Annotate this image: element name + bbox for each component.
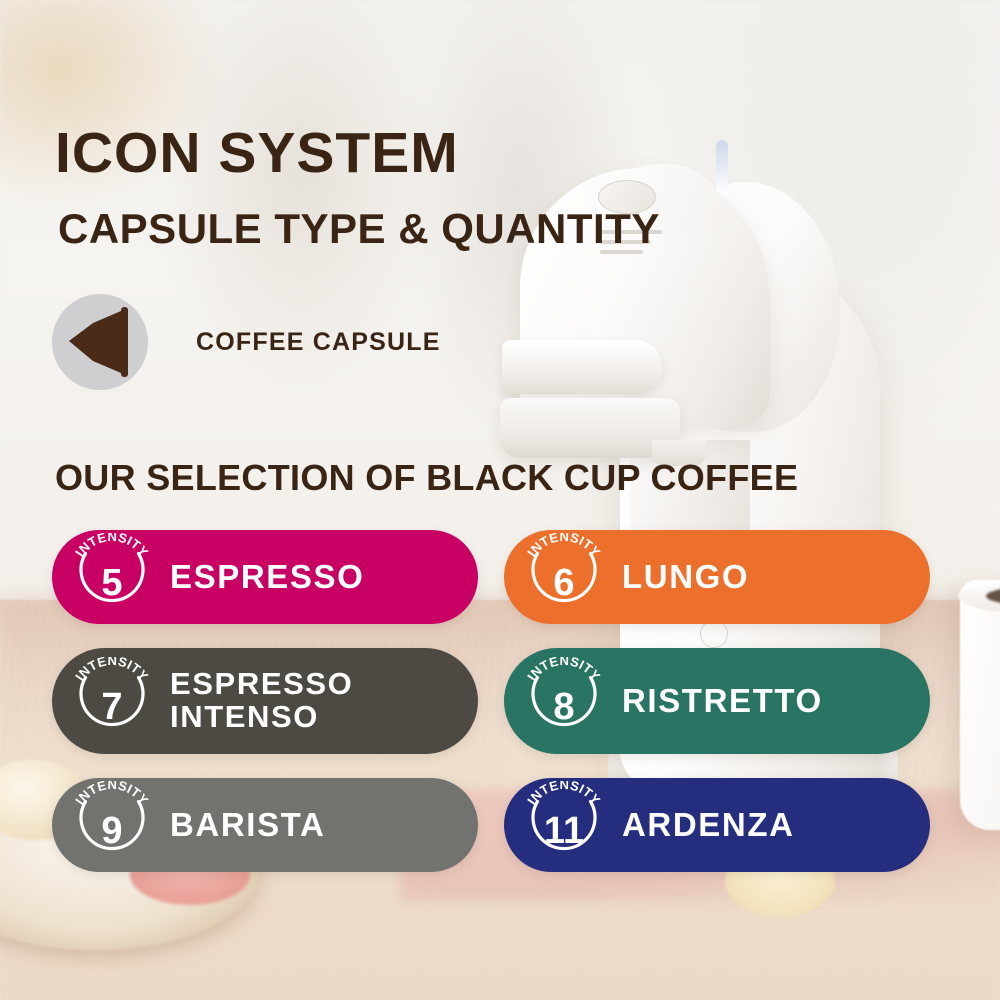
coffee-name-label: ESPRESSO (170, 560, 364, 595)
coffee-name-label: LUNGO (622, 560, 749, 595)
coffee-name-label: ARDENZA (622, 808, 795, 843)
coffee-capsule-icon (63, 307, 137, 377)
capsule-legend-label: COFFEE CAPSULE (196, 328, 441, 357)
intensity-badge-6: INTENSITY6 (520, 533, 608, 621)
coffee-pill-ristretto[interactable]: INTENSITY8 RISTRETTO (504, 648, 930, 754)
svg-text:INTENSITY: INTENSITY (72, 657, 151, 684)
intensity-badge-11: INTENSITY11 (520, 781, 608, 869)
svg-text:INTENSITY: INTENSITY (72, 533, 151, 560)
coffee-selection-grid: INTENSITY5 ESPRESSO INTENSITY6 LUNGO INT… (52, 530, 936, 896)
svg-text:8: 8 (553, 686, 574, 728)
coffee-pill-espresso[interactable]: INTENSITY5 ESPRESSO (52, 530, 478, 624)
intensity-badge-9: INTENSITY9 (68, 781, 156, 869)
coffee-row-3: INTENSITY9 BARISTA INTENSITY11 ARDENZA (52, 778, 936, 872)
svg-text:5: 5 (101, 562, 122, 604)
capsule-legend: COFFEE CAPSULE (52, 294, 441, 390)
capsule-legend-circle (52, 294, 148, 390)
svg-text:INTENSITY: INTENSITY (524, 781, 603, 808)
coffee-pill-espresso-intenso[interactable]: INTENSITY7 ESPRESSO INTENSO (52, 648, 478, 754)
svg-text:7: 7 (101, 686, 122, 728)
section-heading: OUR SELECTION OF BLACK CUP COFFEE (55, 460, 798, 496)
poster-canvas: ICON SYSTEM CAPSULE TYPE & QUANTITY COFF… (0, 0, 1000, 1000)
coffee-pill-barista[interactable]: INTENSITY9 BARISTA (52, 778, 478, 872)
coffee-row-2: INTENSITY7 ESPRESSO INTENSO INTENSITY8 R… (52, 648, 936, 754)
svg-text:INTENSITY: INTENSITY (72, 781, 151, 808)
page-subtitle: CAPSULE TYPE & QUANTITY (58, 208, 660, 250)
page-title: ICON SYSTEM (55, 125, 459, 182)
intensity-badge-8: INTENSITY8 (520, 657, 608, 745)
poster-content: ICON SYSTEM CAPSULE TYPE & QUANTITY COFF… (0, 0, 1000, 1000)
intensity-badge-7: INTENSITY7 (68, 657, 156, 745)
svg-text:INTENSITY: INTENSITY (524, 533, 603, 560)
svg-text:11: 11 (544, 810, 584, 852)
coffee-name-label: BARISTA (170, 808, 325, 843)
coffee-name-label: ESPRESSO INTENSO (170, 668, 353, 734)
coffee-pill-lungo[interactable]: INTENSITY6 LUNGO (504, 530, 930, 624)
intensity-badge-5: INTENSITY5 (68, 533, 156, 621)
svg-text:INTENSITY: INTENSITY (524, 657, 603, 684)
coffee-row-1: INTENSITY5 ESPRESSO INTENSITY6 LUNGO (52, 530, 936, 624)
svg-text:9: 9 (101, 810, 122, 852)
coffee-name-label: RISTRETTO (622, 684, 823, 719)
coffee-pill-ardenza[interactable]: INTENSITY11 ARDENZA (504, 778, 930, 872)
svg-text:6: 6 (553, 562, 574, 604)
